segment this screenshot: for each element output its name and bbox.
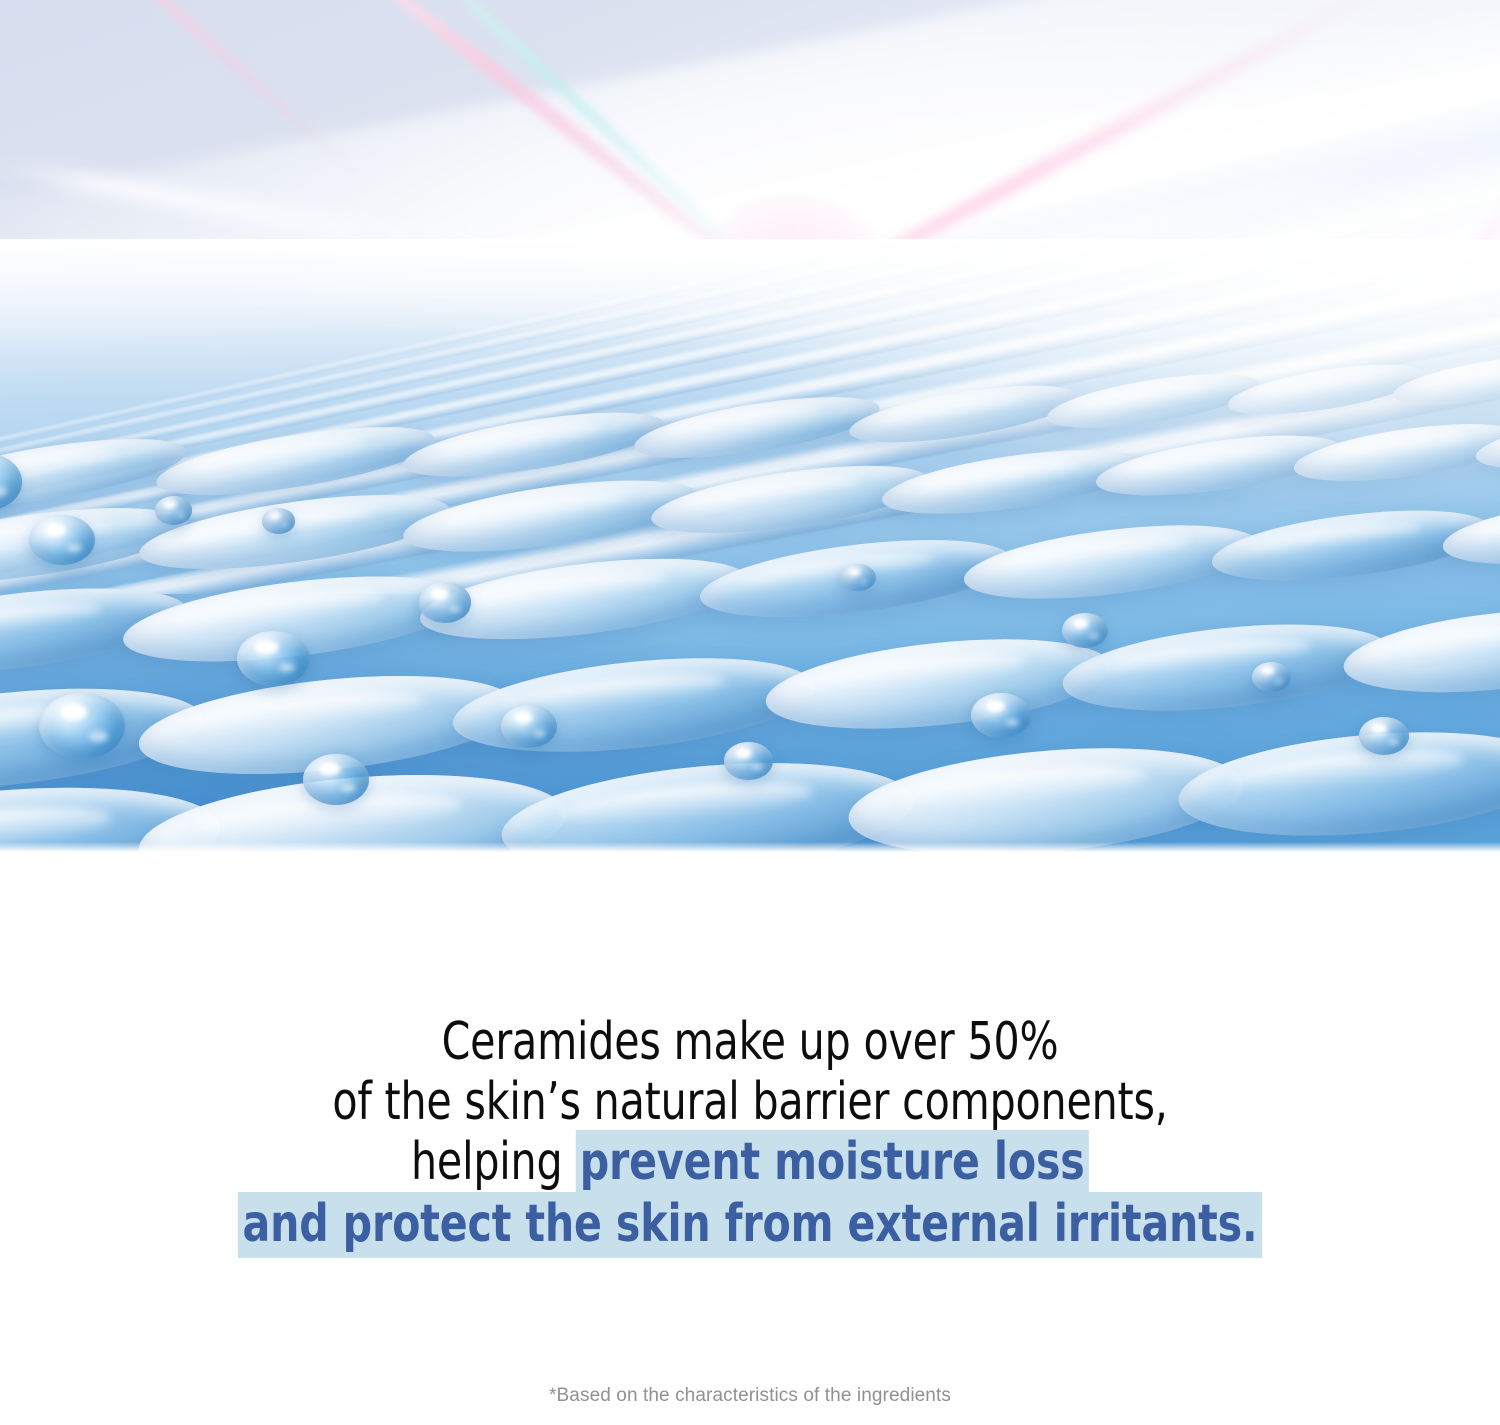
lipid-horizon-haze — [0, 239, 1500, 852]
headline-highlight-moisture: prevent moisture loss — [575, 1130, 1089, 1196]
copy-block: Ceramides make up over 50% of the skin’s… — [0, 852, 1500, 1425]
headline-line-3-plain: helping — [411, 1132, 575, 1192]
headline-line-4: and protect the skin from external irrit… — [90, 1194, 1410, 1254]
headline-highlight-irritants: and protect the skin from external irrit… — [238, 1192, 1262, 1258]
headline: Ceramides make up over 50% of the skin’s… — [90, 1012, 1410, 1254]
headline-line-2: of the skin’s natural barrier components… — [90, 1072, 1410, 1132]
hero-image-skin-barrier — [0, 0, 1500, 852]
headline-line-1: Ceramides make up over 50% — [90, 1012, 1410, 1072]
headline-line-3: helping prevent moisture loss — [90, 1132, 1410, 1192]
footnote-disclaimer: *Based on the characteristics of the ing… — [0, 1384, 1500, 1408]
product-detail-page: Ceramides make up over 50% of the skin’s… — [0, 0, 1500, 1425]
hero-bottom-fade — [0, 842, 1500, 852]
lipid-lamellae-layer — [0, 239, 1500, 852]
